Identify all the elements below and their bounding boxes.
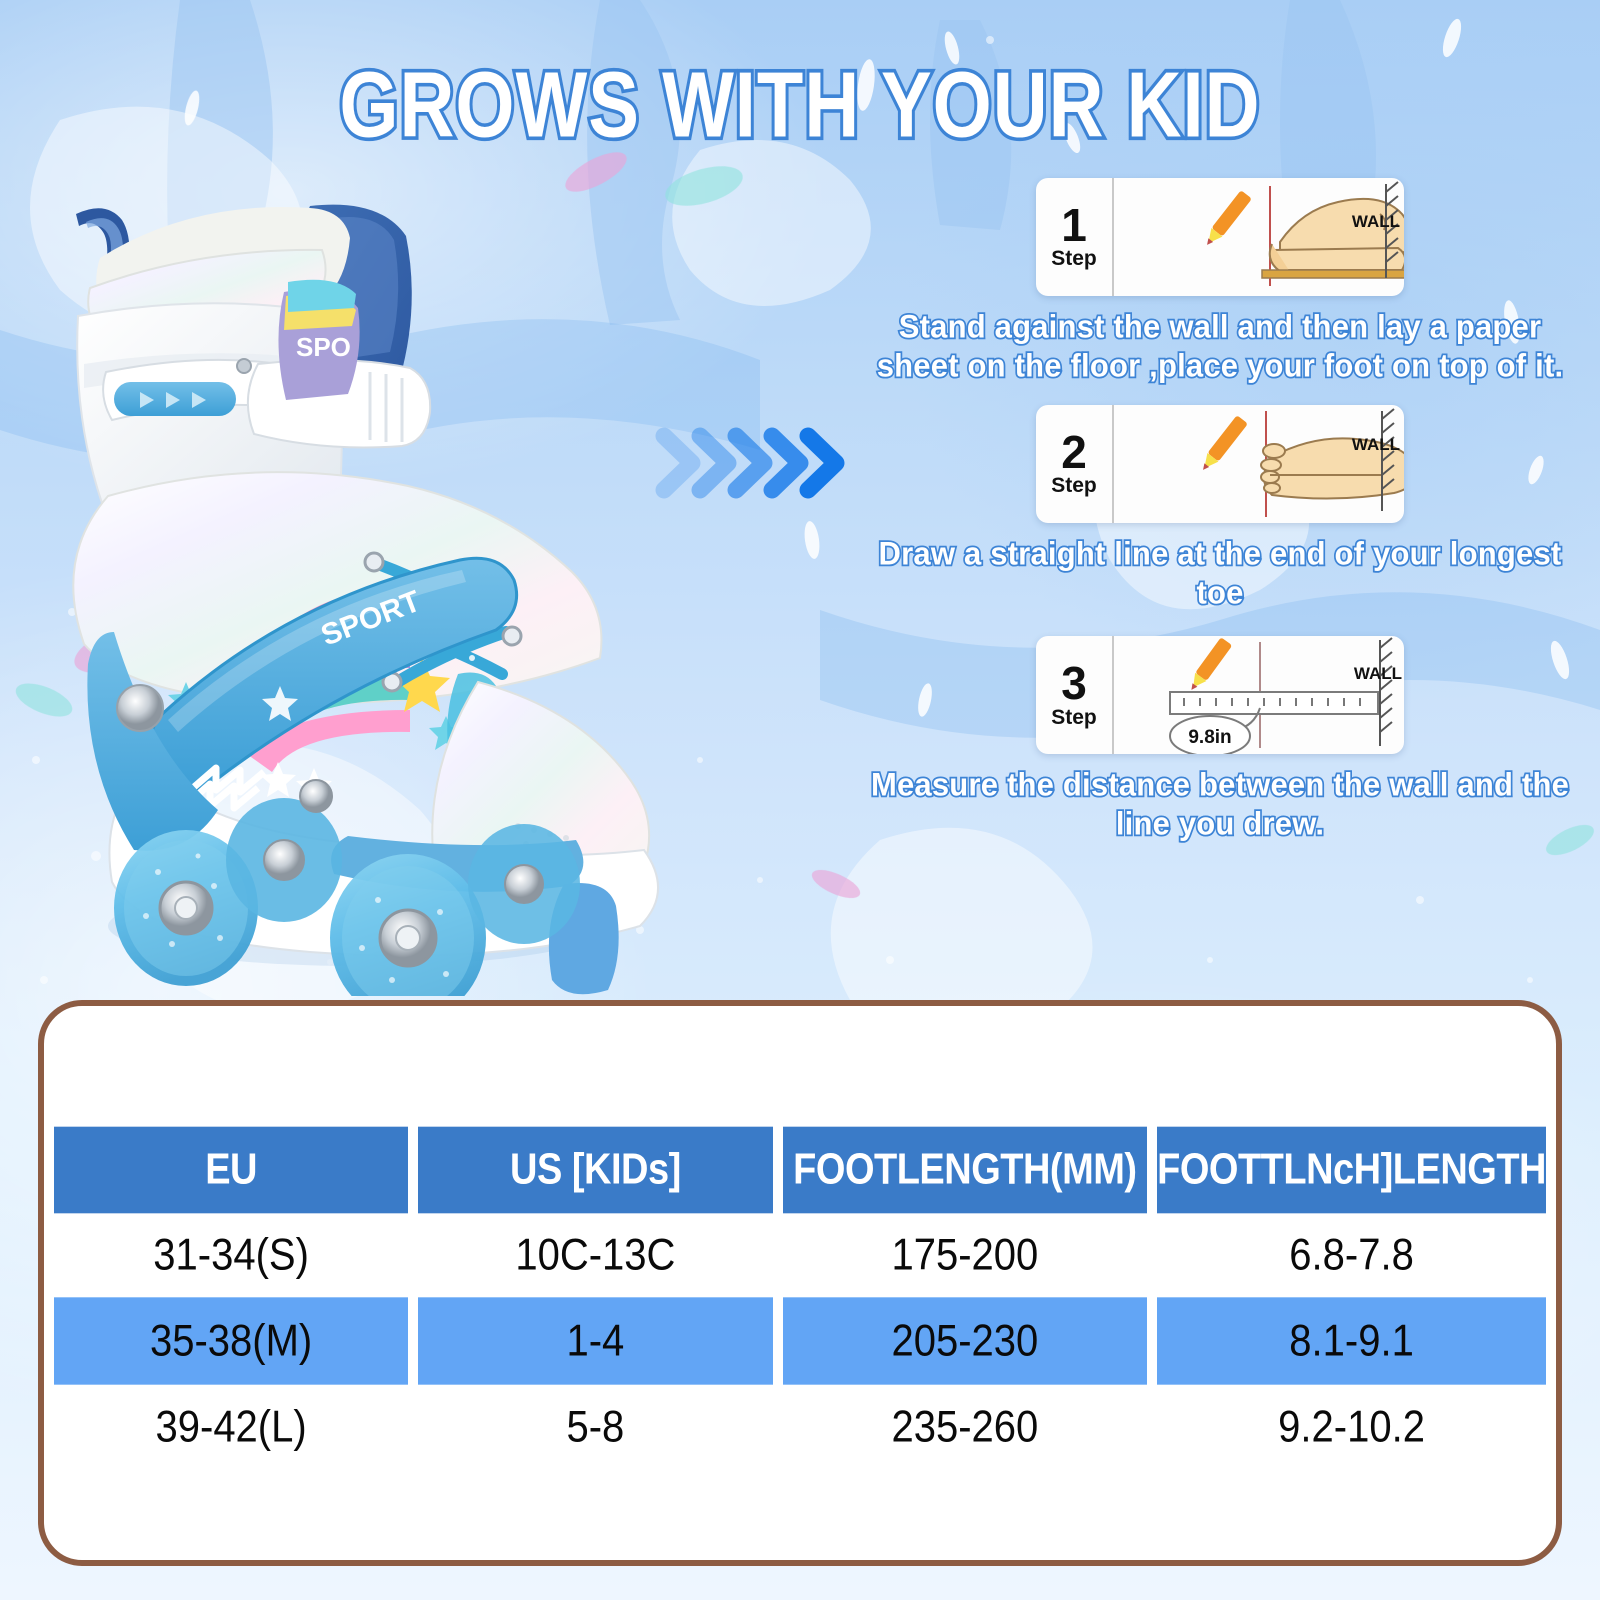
wall-label: WALL [1352, 435, 1400, 455]
step-illustration-3: 9.8in WALL [1114, 636, 1404, 754]
foot-top-view-icon [1114, 405, 1404, 523]
step-card-3: 3 Step [1036, 636, 1404, 754]
step-word: Step [1051, 474, 1097, 497]
column-header-us-kids: US [KIDs] [418, 1127, 772, 1214]
cell-mm: 175-200 [783, 1211, 1148, 1298]
step-caption-1: Stand against the wall and then lay a pa… [870, 308, 1570, 386]
tongue-brand-text: SPO [296, 332, 351, 362]
step-number-box-2: 2 Step [1036, 405, 1114, 523]
wall-label: WALL [1354, 664, 1402, 684]
wall-label: WALL [1352, 212, 1400, 232]
cell-us: 5-8 [418, 1383, 772, 1470]
cell-us: 1-4 [418, 1297, 772, 1384]
step-word: Step [1051, 247, 1097, 270]
column-header-eu: EU [54, 1127, 408, 1214]
step-illustration-1: WALL [1114, 178, 1404, 296]
column-header-footlength-mm: FOOTLENGTH(MM) [783, 1127, 1148, 1214]
cell-eu: 35-38(M) [54, 1297, 408, 1384]
cell-mm: 235-260 [783, 1383, 1148, 1470]
cell-eu: 31-34(S) [54, 1211, 408, 1298]
step-block-1: 1 Step [870, 178, 1570, 383]
page-title: GROWS WITH YOUR KID [0, 52, 1600, 158]
measurement-steps-list: 1 Step [870, 178, 1570, 847]
cell-mm: 205-230 [783, 1297, 1148, 1384]
step-illustration-2: WALL [1114, 405, 1404, 523]
cell-eu: 39-42(L) [54, 1383, 408, 1470]
cell-inch: 9.2-10.2 [1157, 1383, 1546, 1470]
product-image-roller-skate: SPO [48, 196, 688, 996]
table-row: 31-34(S) 10C-13C 175-200 6.8-7.8 [54, 1216, 1546, 1294]
cell-inch: 8.1-9.1 [1157, 1297, 1546, 1384]
step-caption-3: Measure the distance between the wall an… [870, 766, 1570, 844]
foot-side-view-icon [1114, 178, 1404, 296]
chevron-arrows-icon [648, 408, 878, 518]
progress-arrows [648, 408, 878, 518]
column-header-foot-inch-length: FOOTTLNcH]LENGTH [1157, 1127, 1546, 1214]
step-number: 1 [1061, 204, 1087, 248]
step-word: Step [1051, 706, 1097, 729]
table-header-row: EU US [KIDs] FOOTLENGTH(MM) FOOTTLNcH]LE… [54, 1132, 1546, 1208]
step-card-2: 2 Step [1036, 405, 1404, 523]
size-chart-table: EU US [KIDs] FOOTLENGTH(MM) FOOTTLNcH]LE… [44, 1124, 1556, 1474]
step-number: 2 [1061, 431, 1087, 475]
cell-inch: 6.8-7.8 [1157, 1211, 1546, 1298]
size-table-panel: EU US [KIDs] FOOTLENGTH(MM) FOOTTLNcH]LE… [38, 1000, 1562, 1566]
table-row: 39-42(L) 5-8 235-260 9.2-10.2 [54, 1388, 1546, 1466]
roller-skate-illustration: SPO [48, 196, 688, 996]
step-number-box-1: 1 Step [1036, 178, 1114, 296]
step-card-1: 1 Step [1036, 178, 1404, 296]
step-number: 3 [1061, 662, 1087, 706]
measurement-value: 9.8in [1188, 727, 1231, 748]
step-block-2: 2 Step [870, 405, 1570, 610]
step-number-box-3: 3 Step [1036, 636, 1114, 754]
table-row: 35-38(M) 1-4 205-230 8.1-9.1 [54, 1302, 1546, 1380]
ruler-measure-icon: 9.8in [1114, 636, 1404, 754]
cell-us: 10C-13C [418, 1211, 772, 1298]
step-caption-2: Draw a straight line at the end of your … [870, 535, 1570, 613]
step-block-3: 3 Step [870, 636, 1570, 841]
